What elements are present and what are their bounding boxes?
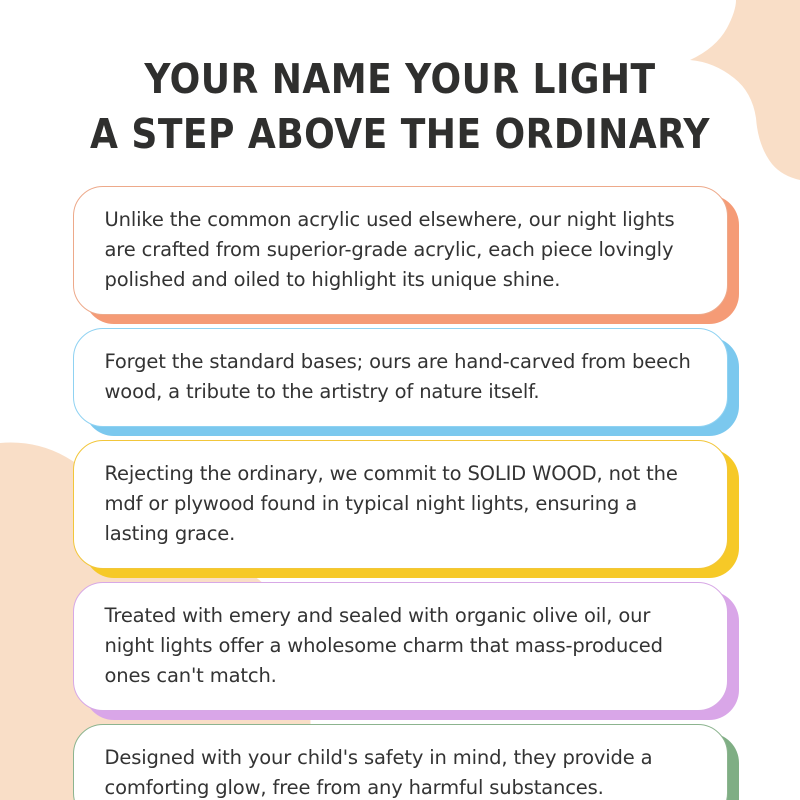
poster-title-line-2: A STEP ABOVE THE ORDINARY (48, 107, 752, 162)
poster-title: YOUR NAME YOUR LIGHT A STEP ABOVE THE OR… (0, 52, 800, 162)
card-body-text: Unlike the common acrylic used elsewhere… (105, 205, 696, 295)
feature-card: Unlike the common acrylic used elsewhere… (73, 186, 728, 315)
card-panel: Unlike the common acrylic used elsewhere… (73, 186, 728, 315)
card-body-text: Forget the standard bases; ours are hand… (105, 347, 696, 407)
card-panel: Treated with emery and sealed with organ… (73, 582, 728, 711)
card-body-text: Rejecting the ordinary, we commit to SOL… (105, 459, 696, 549)
feature-card: Treated with emery and sealed with organ… (73, 582, 728, 711)
feature-card: Designed with your child's safety in min… (73, 724, 728, 800)
card-panel: Forget the standard bases; ours are hand… (73, 328, 728, 427)
card-panel: Rejecting the ordinary, we commit to SOL… (73, 440, 728, 569)
feature-card-list: Unlike the common acrylic used elsewhere… (0, 186, 800, 800)
poster-title-line-1: YOUR NAME YOUR LIGHT (48, 52, 752, 107)
feature-card: Forget the standard bases; ours are hand… (73, 328, 728, 427)
card-body-text: Treated with emery and sealed with organ… (105, 601, 696, 691)
feature-card: Rejecting the ordinary, we commit to SOL… (73, 440, 728, 569)
card-panel: Designed with your child's safety in min… (73, 724, 728, 800)
poster-canvas: YOUR NAME YOUR LIGHT A STEP ABOVE THE OR… (0, 0, 800, 800)
card-body-text: Designed with your child's safety in min… (105, 743, 696, 800)
